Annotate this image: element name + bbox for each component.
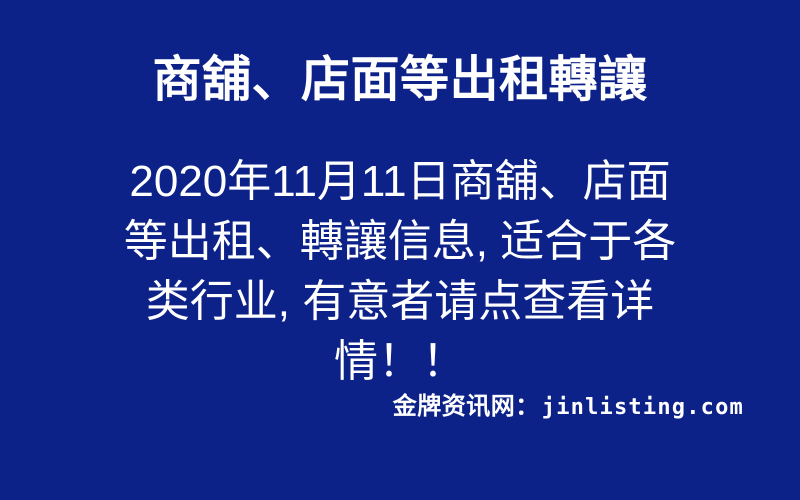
page-title: 商舖、店面等出租轉讓 (0, 48, 800, 112)
banner-description: 2020年11月11日商舖、店面 等出租、轉讓信息, 适合于各 类行业, 有意者… (96, 152, 704, 392)
site-url: jinlisting.com (542, 393, 744, 423)
promo-banner: 商舖、店面等出租轉讓 2020年11月11日商舖、店面 等出租、轉讓信息, 适合… (0, 0, 800, 500)
description-line: 等出租、轉讓信息, 适合于各 (96, 212, 704, 272)
site-name-label: 金牌资讯网： (393, 392, 540, 422)
description-line: 类行业, 有意者请点查看详 (96, 272, 704, 332)
description-line: 情！！ (96, 332, 704, 392)
footer-attribution: 金牌资讯网： jinlisting.com (393, 392, 744, 423)
description-line: 2020年11月11日商舖、店面 (96, 152, 704, 212)
